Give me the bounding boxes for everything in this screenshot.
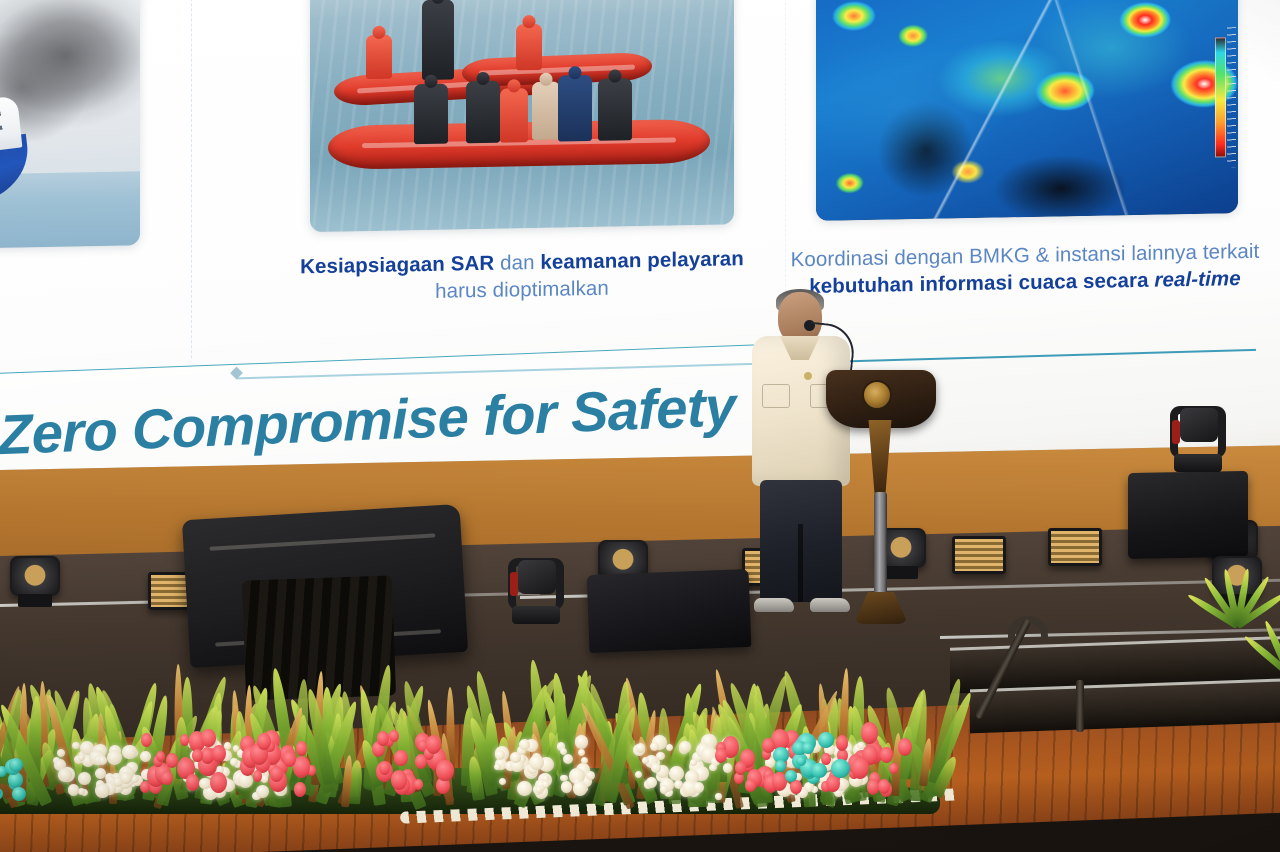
white-flower <box>666 744 673 751</box>
color-intensity-scale <box>1215 37 1226 158</box>
column-divider-left <box>191 0 192 358</box>
pink-flower <box>186 774 199 791</box>
pink-flower <box>166 753 178 768</box>
pink-flower <box>156 751 165 762</box>
speaker-pocket <box>762 384 790 408</box>
par-can-light <box>10 556 60 596</box>
diver-figure <box>466 81 500 144</box>
moving-head-accent <box>1172 420 1180 444</box>
white-flower <box>715 793 721 799</box>
pink-flower <box>283 751 296 767</box>
rescuer-figure <box>500 88 528 143</box>
pink-flower <box>878 779 890 794</box>
white-flower <box>690 759 697 766</box>
diver-figure <box>598 78 632 141</box>
white-flower <box>674 780 683 789</box>
white-flower <box>656 752 664 760</box>
pink-flower <box>394 750 407 767</box>
diver-figure <box>414 84 448 145</box>
white-flower <box>542 781 549 788</box>
white-flower <box>529 755 544 770</box>
caption-radar: Koordinasi dengan BMKG & instansi lainny… <box>790 239 1260 301</box>
white-flower <box>561 781 572 792</box>
blinder-light <box>952 536 1006 574</box>
white-flower <box>499 778 506 785</box>
stage-scene: A ra Kesiapsiagaan SAR dan keamanan pela… <box>0 0 1280 852</box>
white-flower <box>575 735 589 749</box>
pink-flower <box>745 779 756 792</box>
stair-handrail-post <box>1076 680 1084 732</box>
moving-head-light <box>1168 396 1228 472</box>
equipment-road-case <box>1128 471 1248 559</box>
white-flower <box>650 742 659 751</box>
caption-radar-italic: real-time <box>1154 267 1240 292</box>
caption-radar-plain-1: Koordinasi dengan BMKG & instansi lainny… <box>791 240 1260 272</box>
pink-flower <box>377 731 389 745</box>
teal-flower <box>9 758 23 772</box>
stair-step <box>970 679 1280 734</box>
speaker-leg-split <box>798 524 803 602</box>
coastline-overlay <box>816 0 1238 221</box>
caption-sar-plain-1: dan <box>494 251 540 275</box>
caption-sar: Kesiapsiagaan SAR dan keamanan pelayaran… <box>276 246 768 308</box>
pink-flower <box>889 763 898 774</box>
speaking-podium <box>826 370 936 624</box>
white-flower <box>636 743 645 752</box>
white-flower <box>122 745 137 760</box>
teal-flower <box>12 787 26 801</box>
teal-flower <box>802 742 815 755</box>
pink-flower <box>379 761 390 775</box>
sea-surface <box>0 171 140 249</box>
white-flower <box>72 742 80 750</box>
white-flower <box>95 783 110 798</box>
pink-flower <box>253 770 263 782</box>
white-flower <box>573 781 587 795</box>
weather-satellite-radar-photo <box>816 0 1238 221</box>
white-flower <box>693 782 704 793</box>
pink-flower <box>436 760 453 781</box>
white-flower <box>510 752 521 763</box>
white-flower <box>68 784 79 795</box>
pink-flower <box>715 748 727 763</box>
white-flower <box>95 768 106 779</box>
white-flower <box>660 785 669 794</box>
teal-flower <box>811 763 827 779</box>
caption-ferry-plain: ra <box>0 302 94 332</box>
speaker-shoe <box>754 598 794 612</box>
white-flower <box>230 758 238 766</box>
pink-flower <box>294 782 306 796</box>
teal-flower <box>785 770 797 782</box>
projection-screen: A ra Kesiapsiagaan SAR dan keamanan pela… <box>0 0 1280 506</box>
teal-flower <box>831 759 850 778</box>
diver-figure <box>422 0 454 80</box>
rescuer-figure <box>366 35 392 79</box>
diver-figure <box>558 75 592 142</box>
caption-sar-bold-1: Kesiapsiagaan SAR <box>300 252 494 279</box>
pink-flower <box>180 734 189 745</box>
white-flower <box>517 781 532 796</box>
rescuer-figure <box>516 24 542 70</box>
sar-rescue-boats-photo <box>310 0 734 232</box>
pink-flower <box>257 733 271 750</box>
caption-ferry: A ra <box>0 264 94 331</box>
rescuer-figure <box>532 82 560 141</box>
podium-carved-stem <box>864 420 896 498</box>
white-flower <box>57 749 65 757</box>
caption-sar-bold-2: keamanan pelayaran <box>540 247 744 274</box>
color-scale-ticks <box>1227 28 1236 167</box>
white-flower <box>642 757 649 764</box>
podium-foot <box>854 592 908 624</box>
podium-emblem <box>862 380 892 410</box>
moving-head-base <box>1174 454 1222 472</box>
white-flower <box>679 741 691 753</box>
pink-flower <box>861 722 878 744</box>
moving-head-accent <box>510 572 518 596</box>
white-flower <box>120 772 132 784</box>
white-flower <box>709 764 716 771</box>
palm-plant <box>1232 596 1280 674</box>
stage-stairs <box>950 626 1280 756</box>
white-flower <box>651 763 661 773</box>
moving-head-lamp <box>1180 408 1218 442</box>
moving-head-lamp <box>518 560 556 594</box>
caption-radar-bold-1: kebutuhan informasi cuaca secara <box>809 268 1154 297</box>
teal-flower <box>775 760 787 772</box>
caption-sar-plain-2: harus dioptimalkan <box>435 276 609 302</box>
pink-flower <box>880 747 893 763</box>
ferry-smoke-photo <box>0 0 140 249</box>
pink-flower <box>426 735 441 753</box>
pink-flower <box>735 761 746 775</box>
moving-head-light <box>506 548 566 624</box>
white-flower <box>581 757 588 764</box>
pink-flower <box>296 741 307 755</box>
white-flower <box>586 771 595 780</box>
podium-pole <box>874 492 887 598</box>
floral-arrangement <box>0 624 940 814</box>
moving-head-base <box>512 606 560 624</box>
white-flower <box>578 749 585 756</box>
blinder-light <box>1048 528 1102 566</box>
pink-flower <box>898 738 912 756</box>
